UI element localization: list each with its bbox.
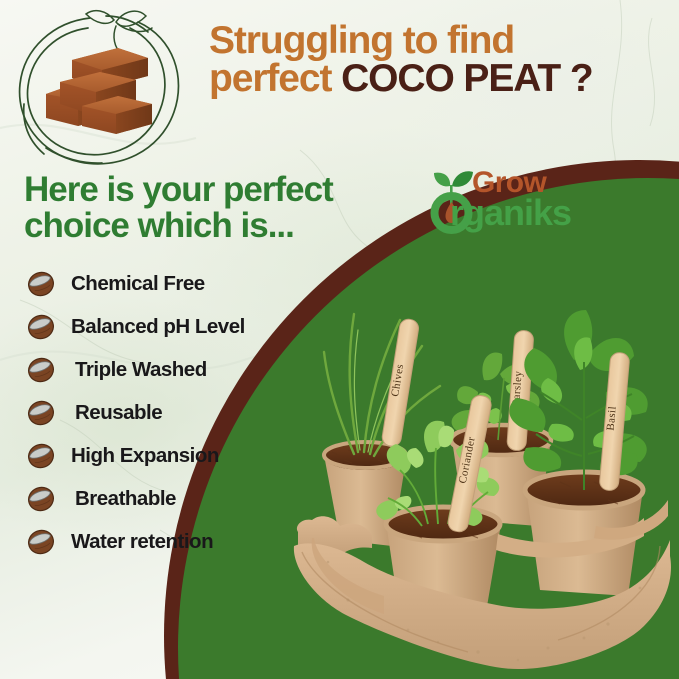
list-item-label: Breathable (75, 487, 176, 511)
brand-logo: Grow rganiks (424, 162, 614, 238)
coconut-half-icon (26, 484, 56, 514)
list-item-label: Triple Washed (75, 358, 207, 382)
coconut-half-icon (26, 269, 56, 299)
sub-headline-line-1: Here is your perfect (24, 172, 384, 208)
sub-headline: Here is your perfect choice which is... (24, 172, 384, 243)
headline-line-2: perfect COCO PEAT ? (209, 60, 671, 98)
coconut-half-icon (26, 441, 56, 471)
list-item-label: Reusable (75, 401, 162, 425)
list-item: High Expansion (26, 434, 306, 477)
headline-line-2-prefix: perfect (209, 57, 341, 100)
coco-peat-bricks-image (44, 46, 156, 134)
list-item: Chemical Free (26, 262, 306, 305)
list-item-label: Water retention (71, 530, 213, 554)
list-item: Breathable (26, 477, 306, 520)
coconut-half-icon (26, 312, 56, 342)
list-item-label: Chemical Free (71, 272, 205, 296)
list-item-label: Balanced pH Level (71, 315, 245, 339)
list-item-label: High Expansion (71, 444, 219, 468)
list-item: Water retention (26, 520, 306, 563)
list-item: Balanced pH Level (26, 305, 306, 348)
feature-list: Chemical Free Balanced pH Level (26, 262, 306, 563)
coconut-half-icon (26, 355, 56, 385)
plant-marker-label: Basil (605, 406, 619, 432)
list-item: Triple Washed (26, 348, 306, 391)
headline: Struggling to find perfect COCO PEAT ? (209, 22, 671, 98)
headline-line-2-highlight: COCO PEAT ? (341, 57, 593, 100)
coconut-half-icon (26, 527, 56, 557)
sub-headline-line-2: choice which is... (24, 208, 384, 244)
list-item: Reusable (26, 391, 306, 434)
coconut-half-icon (26, 398, 56, 428)
logo-word-organiks: rganiks (450, 192, 571, 234)
headline-line-1: Struggling to find (209, 22, 671, 60)
plant-marker-chives: Chives (381, 318, 420, 447)
marketing-graphic: Struggling to find perfect COCO PEAT ? H… (0, 0, 679, 679)
seedling-tray-photo: Chives (288, 300, 679, 679)
